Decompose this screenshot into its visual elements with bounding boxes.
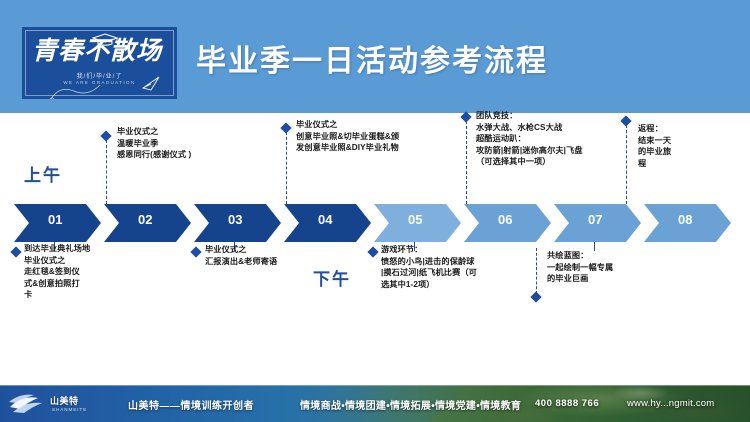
connector-08	[626, 125, 627, 204]
step-note-01[interactable]: 到达毕业典礼场地 毕业仪式之 走红毯&签到仪 式&创意拍照打 卡	[24, 243, 136, 301]
step-note-06-line-5: （可选择其中一项）	[476, 156, 636, 168]
diamond-marker-06	[460, 111, 471, 122]
company-wave-logo-icon	[8, 391, 54, 415]
connector-06	[466, 121, 467, 204]
step-number-03: 03	[228, 212, 242, 227]
step-note-01-line-2: 走红毯&签到仪	[24, 266, 136, 278]
diamond-marker-05	[367, 246, 378, 257]
page-header: 青春不散场 我/们/毕/业/了 WE ARE GRADUATION 毕业季一日活…	[0, 0, 750, 113]
step-note-03-line-1: 毕业仪式之	[205, 244, 325, 256]
step-note-06-line-2: 水弹大战、水枪CS大战	[476, 122, 636, 134]
step-note-06-line-3: 超酷运动趴：	[476, 133, 636, 145]
step-note-04-line-2: 创意毕业照&切毕业蛋糕&颁	[296, 131, 458, 143]
step-number-07: 07	[588, 212, 602, 227]
footer-phone-number: 400 8888 766	[535, 398, 599, 409]
step-note-01-line-1: 毕业仪式之	[24, 255, 136, 267]
step-note-08-line-2: 结束一天	[638, 135, 720, 147]
step-note-07-line-1: 共绘蓝图：	[547, 250, 671, 262]
step-note-01-line-4: 卡	[24, 289, 136, 301]
chevron-step-bar	[0, 204, 750, 242]
connector-02	[106, 140, 107, 204]
logo-main-text: 青春不散场	[31, 38, 163, 65]
step-note-06[interactable]: 团队竞技： 水弹大战、水枪CS大战 超酷运动趴： 攻防箭|射箭|迷你高尔夫|飞盘…	[476, 110, 636, 168]
connector-07	[536, 248, 537, 294]
step-note-03[interactable]: 毕业仪式之 汇报演出&老师寄语	[205, 244, 325, 267]
step-note-05[interactable]: 游戏环节： 愤怒的小鸟|进击的保龄球 |摸石过河|纸飞机比赛（可 选其中1-2项…	[381, 244, 525, 290]
connector-04	[286, 132, 287, 204]
logo-swirl-decoration	[48, 81, 118, 99]
step-note-04[interactable]: 毕业仪式之 创意毕业照&切毕业蛋糕&颁 发创意毕业照&DIY毕业礼物	[296, 119, 458, 154]
diamond-marker-02	[100, 130, 111, 141]
step-number-04: 04	[318, 212, 332, 227]
step-note-01-line-3: 式&创意拍照打	[24, 278, 136, 290]
graduation-logo: 青春不散场 我/们/毕/业/了 WE ARE GRADUATION	[22, 27, 177, 99]
daypart-afternoon-label: 下午	[313, 265, 351, 290]
footer-slogan: 山美特——情境训练开创者	[128, 397, 254, 412]
step-note-01-heading: 到达毕业典礼场地	[24, 243, 136, 255]
step-note-07-line-3: 的毕业巨画	[547, 273, 671, 285]
diamond-marker-04	[280, 122, 291, 133]
step-number-02: 02	[138, 212, 152, 227]
step-note-06-line-1: 团队竞技：	[476, 110, 636, 122]
step-note-08-line-1: 返程：	[638, 123, 720, 135]
paper-plane-icon	[141, 75, 161, 91]
step-note-08[interactable]: 返程： 结束一天 的毕业旅 程	[638, 123, 720, 169]
footer-services-list: 情境商战•情境团建•情境拓展•情境党建•情境教育	[300, 397, 521, 412]
daypart-morning-label: 上午	[24, 161, 62, 186]
step-note-08-line-4: 程	[638, 158, 720, 170]
step-number-05: 05	[408, 212, 422, 227]
footer-brand-name: 山美特	[50, 394, 79, 407]
step-note-07[interactable]: 共绘蓝图： 一起绘制一幅专属 的毕业巨画	[547, 250, 671, 285]
step-number-08: 08	[678, 212, 692, 227]
step-note-02-line-3: 感恩同行(感谢仪式 )	[117, 149, 257, 161]
diamond-marker-07	[530, 291, 541, 302]
step-note-02-line-1: 毕业仪式之	[117, 126, 257, 138]
step-note-05-line-3: |摸石过河|纸飞机比赛（可	[381, 267, 525, 279]
step-note-05-line-2: 愤怒的小鸟|进击的保龄球	[381, 256, 525, 268]
step-note-05-line-1: 游戏环节：	[381, 244, 525, 256]
step-number-06: 06	[498, 212, 512, 227]
page-title: 毕业季一日活动参考流程	[196, 36, 548, 80]
timeline-canvas: 上午 下午 01 02 03 04 05 06 07 08	[0, 113, 750, 385]
footer-top-divider	[0, 385, 750, 386]
step-note-03-line-2: 汇报演出&老师寄语	[205, 256, 325, 268]
step-note-02[interactable]: 毕业仪式之 温暖毕业季 感恩同行(感谢仪式 )	[117, 126, 257, 161]
footer-brand-en: SHANMEITE	[52, 407, 87, 412]
step-note-08-line-3: 的毕业旅	[638, 146, 720, 158]
step-note-02-line-2: 温暖毕业季	[117, 138, 257, 150]
footer-website-url[interactable]: www.hy...ngmit.com	[627, 398, 714, 409]
step-note-04-line-3: 发创意毕业照&DIY毕业礼物	[296, 142, 458, 154]
diamond-marker-01	[10, 246, 21, 257]
step-note-06-line-4: 攻防箭|射箭|迷你高尔夫|飞盘	[476, 145, 636, 157]
diamond-marker-03	[190, 246, 201, 257]
step-note-07-line-2: 一起绘制一幅专属	[547, 262, 671, 274]
step-note-05-line-4: 选其中1-2项）	[381, 279, 525, 291]
page-footer: 山美特 SHANMEITE 山美特——情境训练开创者 情境商战•情境团建•情境拓…	[0, 385, 750, 422]
step-note-04-line-1: 毕业仪式之	[296, 119, 458, 131]
step-number-01: 01	[48, 212, 62, 227]
